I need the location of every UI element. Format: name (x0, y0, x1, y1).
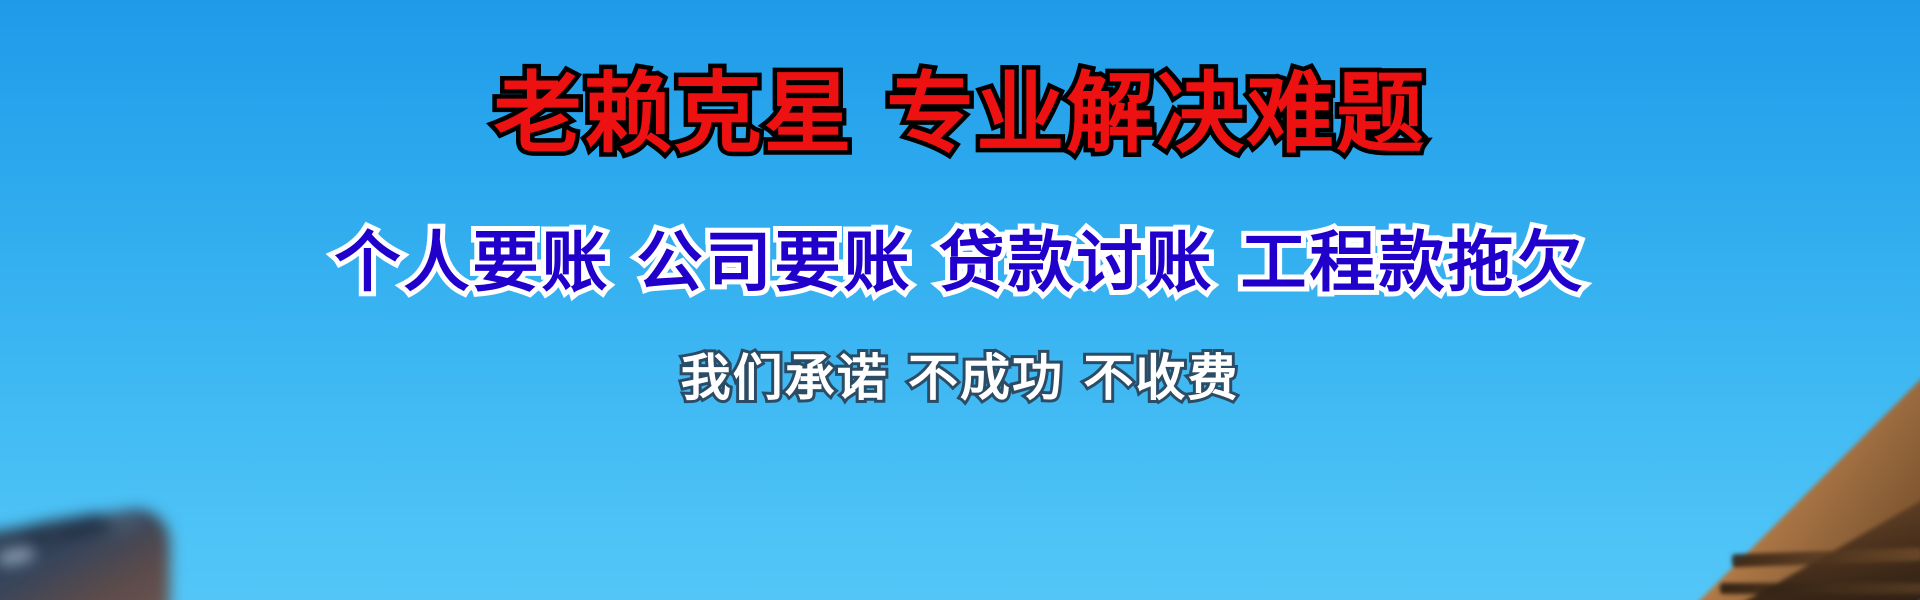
promotional-banner: 老赖克星 专业解决难题 个人要账 公司要账 贷款讨账 工程款拖欠 我们承诺 不成… (0, 0, 1920, 600)
banner-text-content: 老赖克星 专业解决难题 个人要账 公司要账 贷款讨账 工程款拖欠 我们承诺 不成… (0, 0, 1920, 600)
banner-services-line: 个人要账 公司要账 贷款讨账 工程款拖欠 (0, 228, 1920, 297)
banner-promise-line: 我们承诺 不成功 不收费 (0, 352, 1920, 405)
banner-headline: 老赖克星 专业解决难题 (0, 68, 1920, 160)
